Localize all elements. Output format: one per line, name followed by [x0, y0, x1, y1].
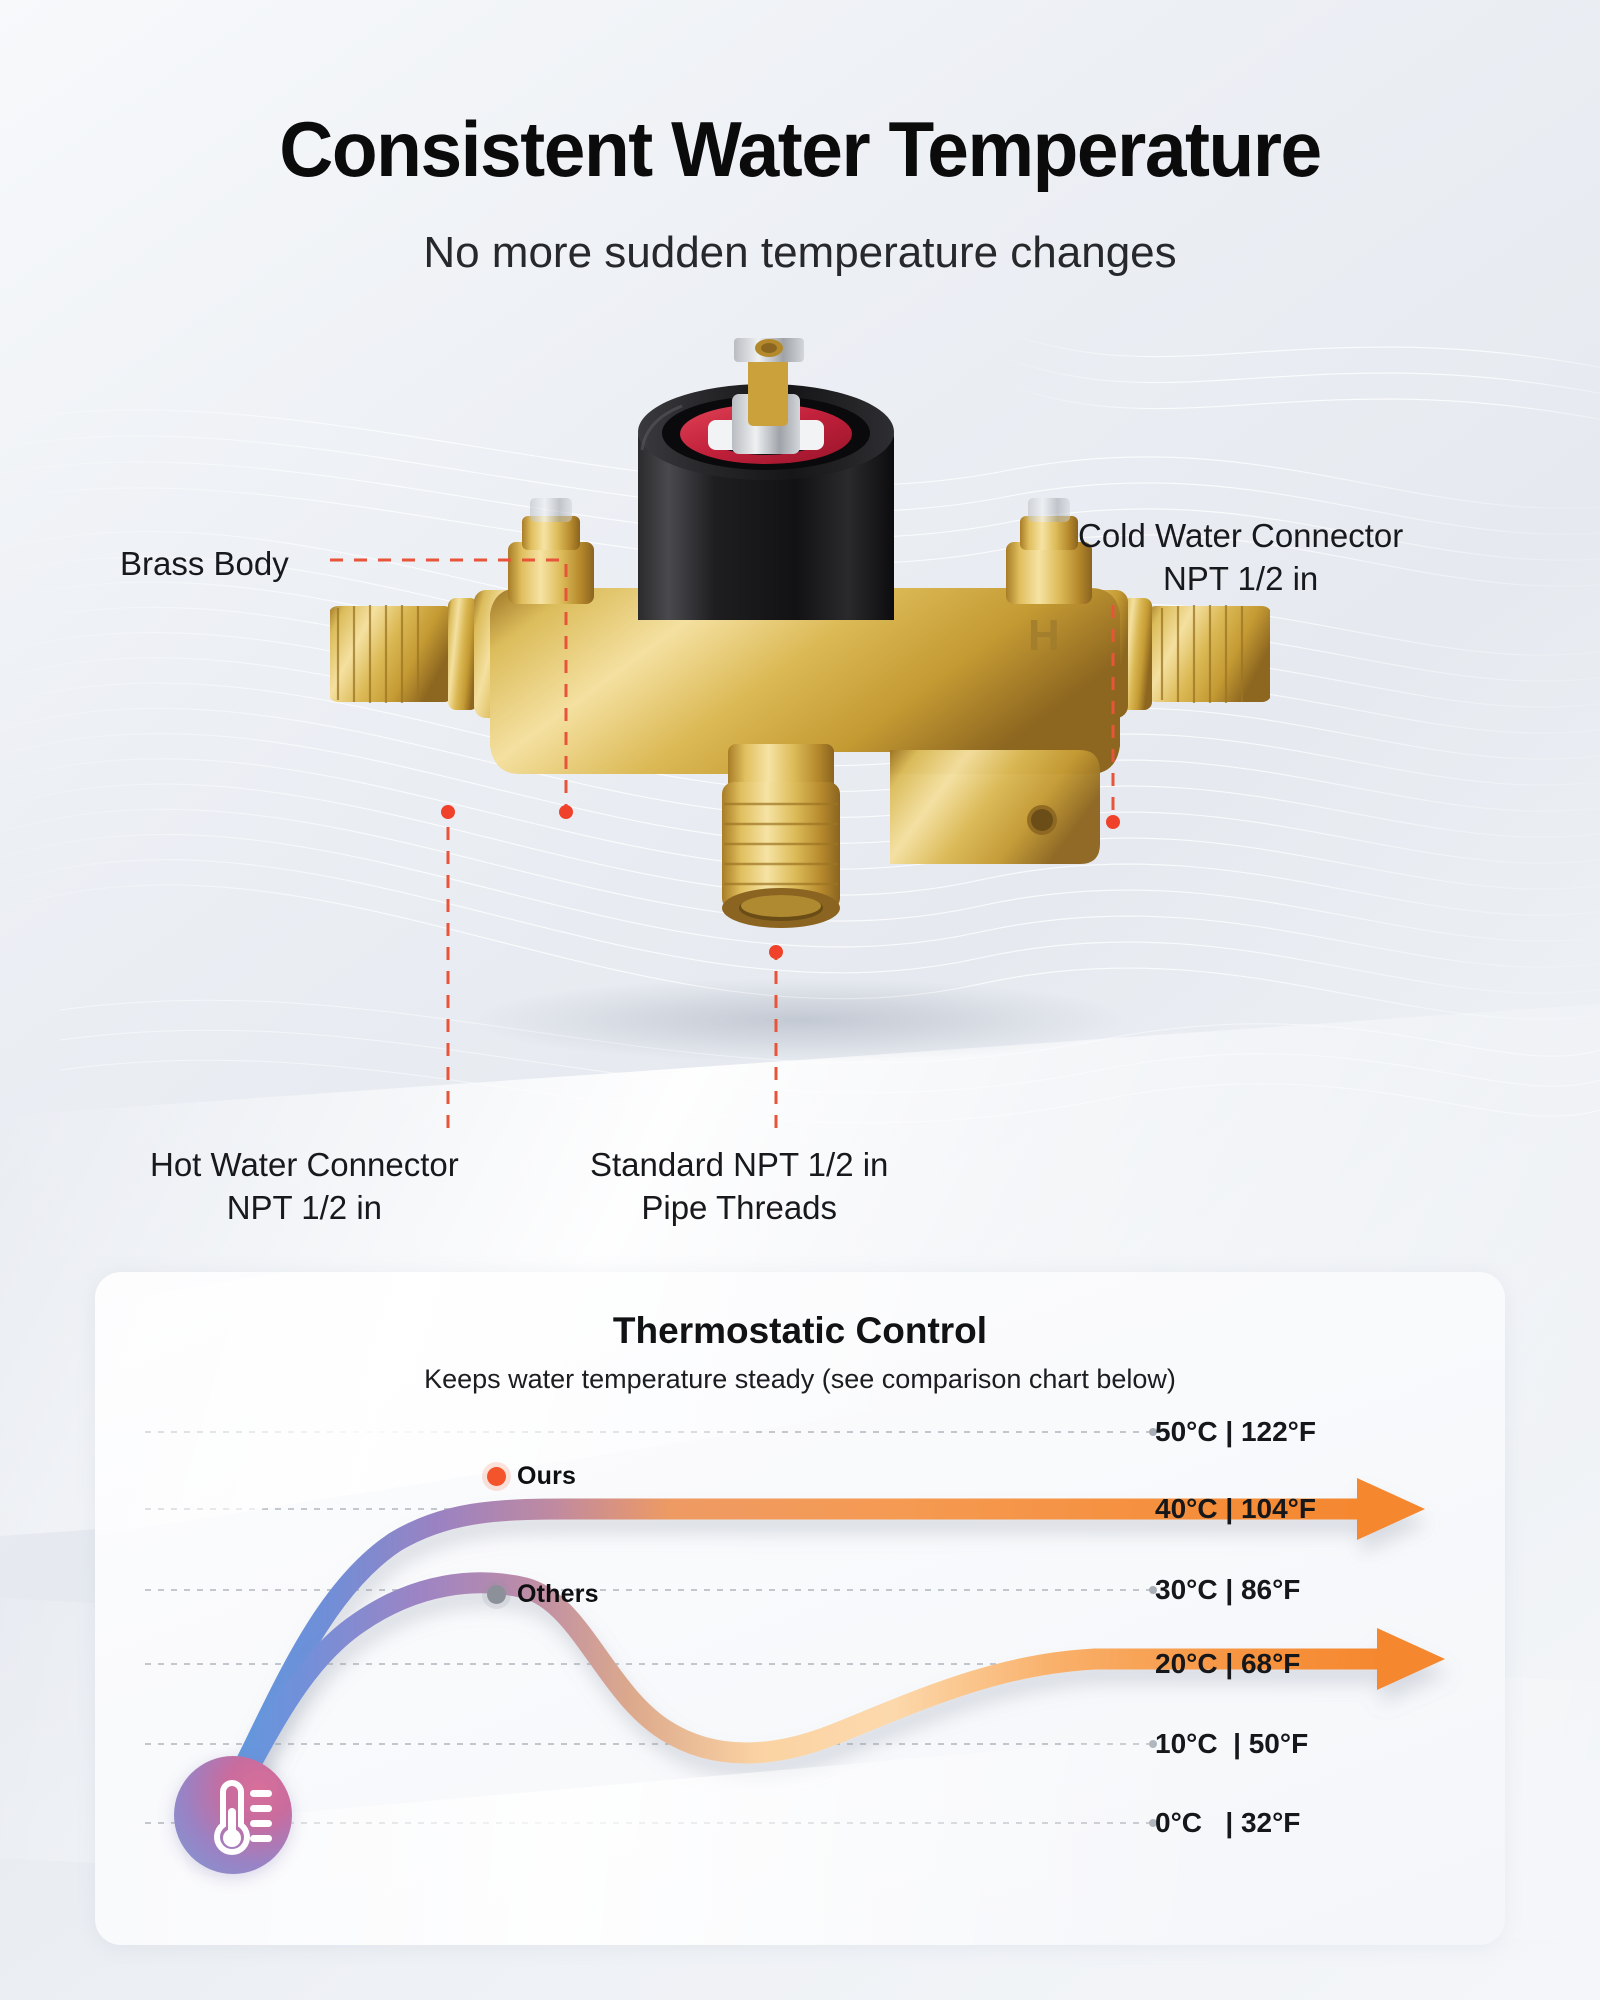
scale-label-0c: 0°C | 32°F — [1155, 1807, 1385, 1839]
port-bottom — [722, 744, 840, 928]
hot-marking-H: H — [1028, 611, 1060, 660]
callout-std-line1: Standard NPT 1/2 in — [590, 1144, 888, 1187]
scale-label-50c: 50°C | 122°F — [1155, 1416, 1385, 1448]
callout-hot-line2: NPT 1/2 in — [150, 1187, 459, 1230]
legend-others: Others — [487, 1580, 599, 1609]
scale-label-10c: 10°C | 50°F — [1155, 1728, 1385, 1760]
card-subtitle: Keeps water temperature steady (see comp… — [95, 1364, 1505, 1395]
callout-cold-line1: Cold Water Connector — [1078, 515, 1403, 558]
callout-cold-water-connector: Cold Water Connector NPT 1/2 in — [1078, 515, 1403, 601]
callout-standard-pipe-threads: Standard NPT 1/2 in Pipe Threads — [590, 1144, 888, 1230]
card-title: Thermostatic Control — [95, 1310, 1505, 1352]
callout-brass-body-line1: Brass Body — [120, 543, 289, 586]
callout-brass-body: Brass Body — [120, 543, 289, 586]
scale-label-40c: 40°C | 104°F — [1155, 1493, 1385, 1525]
legend-others-label: Others — [517, 1580, 599, 1609]
stop-cap-left — [508, 498, 594, 604]
thermostatic-control-card: Thermostatic Control Keeps water tempera… — [95, 1272, 1505, 1945]
scale-label-20c: 20°C | 68°F — [1155, 1648, 1385, 1680]
legend-ours-label: Ours — [517, 1462, 576, 1491]
legend-others-dot — [487, 1585, 506, 1604]
page-title: Consistent Water Temperature — [32, 104, 1568, 195]
callout-hot-line1: Hot Water Connector — [150, 1144, 459, 1187]
legend-ours-dot — [487, 1467, 506, 1486]
thermostatic-cartridge — [638, 338, 894, 620]
product-image-shower-valve: H — [330, 320, 1270, 1080]
thermometer-badge — [174, 1756, 292, 1874]
page-subtitle: No more sudden temperature changes — [0, 228, 1600, 278]
callout-cold-line2: NPT 1/2 in — [1078, 558, 1403, 601]
callout-std-line2: Pipe Threads — [590, 1187, 888, 1230]
thermometer-icon — [174, 1756, 292, 1874]
legend-ours: Ours — [487, 1462, 576, 1491]
infographic-page: Consistent Water Temperature No more sud… — [0, 0, 1600, 2000]
scale-label-30c: 30°C | 86°F — [1155, 1574, 1385, 1606]
callout-hot-water-connector: Hot Water Connector NPT 1/2 in — [150, 1144, 459, 1230]
